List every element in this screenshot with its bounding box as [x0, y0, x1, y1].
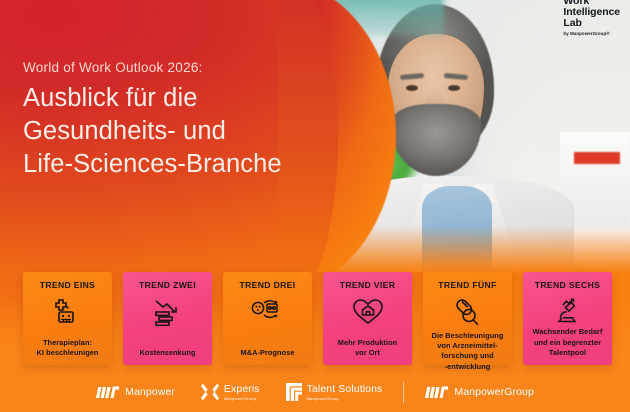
trend-card-3-label: M&A-Prognose — [241, 348, 295, 358]
footer-divider — [403, 382, 404, 403]
talent-solutions-icon — [286, 383, 302, 401]
footer-brand-bar: Manpower Experis ManpowerGroup — [0, 372, 630, 412]
brand-experis[interactable]: Experis ManpowerGroup — [201, 383, 260, 401]
trend-card-1-kicker: TREND EINS — [40, 280, 96, 290]
work-intelligence-lab-logo: Work Intelligence Lab by ManpowerGroup® — [563, 0, 620, 36]
trend-card-5[interactable]: TREND FÜNF Die Beschleunigungvon Arzneim… — [423, 272, 512, 365]
trend-card-1-label: Therapieplan:KI beschleunigen — [37, 338, 99, 358]
cost-reduction-arrow-icon — [152, 297, 184, 327]
title-line-1: Ausblick für die — [23, 82, 323, 115]
logo-line-3: Lab — [563, 18, 620, 29]
photo-eye-left — [406, 85, 418, 91]
trend-card-row: TREND EINS Therapieplan:KI beschleunigen… — [23, 272, 612, 365]
manpowergroup-bars-icon — [425, 386, 449, 399]
trend-card-2-label: Kostensenkung — [139, 348, 195, 358]
brand-manpower[interactable]: Manpower — [96, 386, 175, 399]
brand-manpowergroup[interactable]: ManpowerGroup — [425, 386, 534, 399]
brand-talent-solutions-sub: ManpowerGroup — [307, 397, 383, 401]
experis-x-icon — [201, 383, 219, 401]
eyebrow-text: World of Work Outlook 2026: — [23, 60, 323, 75]
trend-card-5-label: Die Beschleunigungvon Arzneimittel-forsc… — [432, 331, 504, 372]
trend-card-4-kicker: TREND VIER — [340, 280, 396, 290]
poster-canvas: Work Intelligence Lab by ManpowerGroup® … — [0, 0, 630, 412]
trend-card-4[interactable]: TREND VIER Mehr Produktionvor Ort — [323, 272, 412, 365]
brand-talent-solutions-name: Talent Solutions — [307, 383, 383, 395]
trend-card-6[interactable]: TREND SECHS Wachsender Bedarfund ein beg… — [523, 272, 612, 365]
page-title: Ausblick für die Gesundheits- und Life-S… — [23, 82, 323, 181]
trend-card-2-kicker: TREND ZWEI — [139, 280, 196, 290]
hero-photo — [278, 0, 630, 272]
pill-magnifier-icon — [454, 297, 482, 327]
title-line-3: Life-Sciences-Branche — [23, 148, 323, 181]
logo-subtitle: by ManpowerGroup® — [563, 32, 620, 37]
photo-shelf-label — [574, 152, 620, 164]
trend-card-5-kicker: TREND FÜNF — [438, 280, 496, 290]
trend-card-3-kicker: TREND DREI — [239, 280, 295, 290]
trend-card-3[interactable]: TREND DREI M&A-Prognose — [223, 272, 312, 365]
manpower-bars-icon — [96, 386, 120, 399]
robot-medical-cross-icon — [53, 297, 83, 327]
brand-manpowergroup-name: ManpowerGroup — [454, 386, 534, 398]
merger-arrows-icon — [251, 297, 285, 327]
heart-home-icon — [352, 297, 384, 327]
photo-eye-right — [448, 85, 460, 91]
title-line-2: Gesundheits- und — [23, 115, 323, 148]
trend-card-2[interactable]: TREND ZWEI Kostensenkung — [123, 272, 212, 365]
brand-experis-name: Experis — [224, 383, 260, 395]
trend-card-4-label: Mehr Produktionvor Ort — [338, 338, 397, 358]
brand-experis-sub: ManpowerGroup — [224, 397, 260, 401]
trend-card-6-kicker: TREND SECHS — [535, 280, 600, 290]
microscope-growth-icon — [553, 297, 583, 327]
brand-talent-solutions[interactable]: Talent Solutions ManpowerGroup — [286, 383, 383, 401]
trend-card-6-label: Wachsender Bedarfund ein begrenzterTalen… — [533, 327, 603, 358]
headline-block: World of Work Outlook 2026: Ausblick für… — [23, 60, 323, 181]
brand-manpower-name: Manpower — [125, 386, 175, 398]
trend-card-1[interactable]: TREND EINS Therapieplan:KI beschleunigen — [23, 272, 112, 365]
